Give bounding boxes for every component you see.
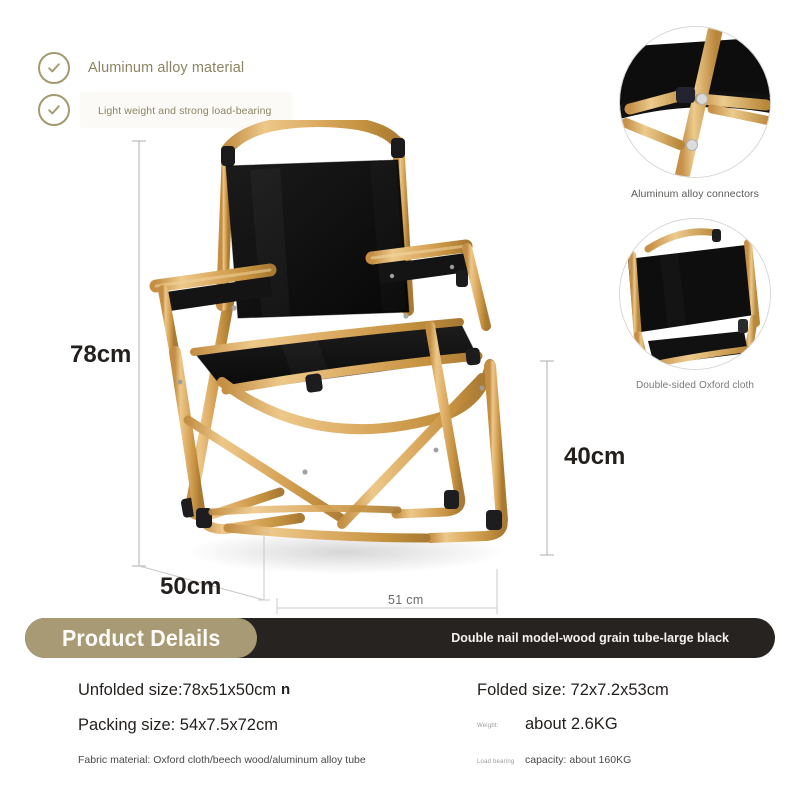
spec-packing-size: Packing size: 54x7.5x72cm — [78, 716, 278, 735]
spec-unfolded-size: Unfolded size:78x51x50cm — [78, 681, 276, 700]
spec-weight-label: Weight: — [477, 723, 499, 729]
product-details-pill: Product Delails — [25, 618, 257, 658]
dimension-width-label: 51 cm — [388, 593, 424, 607]
callout-oxford-cloth: Double-sided Oxford cloth — [619, 218, 771, 391]
callout-aluminum-connectors: Aluminum alloy connectors — [619, 26, 771, 200]
spec-weight-value: about 2.6KG — [525, 715, 618, 734]
spec-unfolded-glyph: n — [281, 681, 290, 698]
callout-image — [619, 218, 771, 370]
product-details-title: Product Delails — [62, 625, 221, 652]
callout-caption: Double-sided Oxford cloth — [619, 380, 771, 391]
dimension-seat-height-label: 40cm — [564, 443, 625, 471]
spec-load-bearing-value: capacity: about 160KG — [525, 754, 631, 766]
dimension-height-label: 78cm — [70, 341, 131, 369]
dimension-depth-label: 50cm — [160, 573, 221, 601]
spec-folded-size: Folded size: 72x7.2x53cm — [477, 681, 669, 700]
spec-fabric-material: Fabric material: Oxford cloth/beech wood… — [78, 754, 366, 766]
spec-load-bearing-label: Load bearing — [477, 759, 514, 765]
callout-image — [619, 26, 771, 178]
callout-caption: Aluminum alloy connectors — [619, 188, 771, 200]
product-infographic: Aluminum alloy material Light weight and… — [0, 0, 800, 800]
product-details-banner: Product Delails Double nail model-wood g… — [25, 618, 775, 658]
product-variant-label: Double nail model-wood grain tube-large … — [451, 618, 729, 658]
